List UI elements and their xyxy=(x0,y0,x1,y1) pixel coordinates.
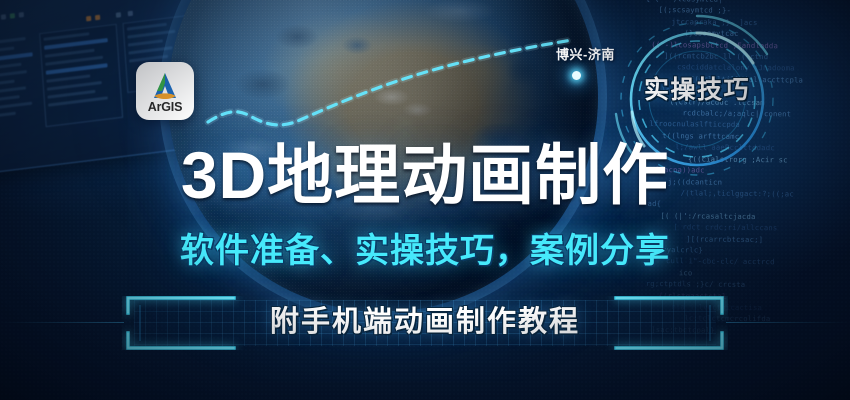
poster-root: 博兴-济南 { ("- )lcosymtcd|[(;scsaymtcd ;}-j… xyxy=(0,0,850,400)
background-vignette xyxy=(0,0,850,400)
